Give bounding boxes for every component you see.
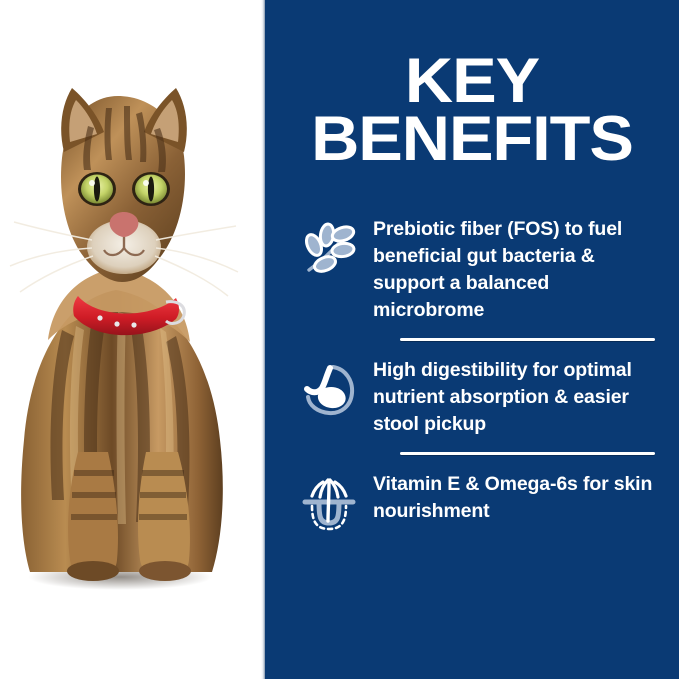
benefit-text: Prebiotic fiber (FOS) to fuel beneficial… — [373, 214, 655, 324]
cat-photo — [0, 0, 261, 679]
benefit-item-high-digestibility: High digestibility for optimal nutrient … — [265, 355, 679, 438]
page-title: KEY BENEFITS — [253, 52, 679, 168]
wheat-grain-icon — [300, 220, 358, 278]
benefit-list: Prebiotic fiber (FOS) to fuel beneficial… — [265, 214, 679, 533]
benefit-text: Vitamin E & Omega-6s for skin nourishmen… — [373, 469, 655, 525]
stomach-icon — [300, 361, 358, 419]
benefit-item-vitamin-e-omega-6: Vitamin E & Omega-6s for skin nourishmen… — [265, 469, 679, 533]
benefit-divider-2 — [400, 452, 655, 455]
benefit-divider-1 — [400, 338, 655, 341]
hair-follicle-icon — [300, 475, 358, 533]
benefit-text: High digestibility for optimal nutrient … — [373, 355, 655, 438]
benefits-panel: KEY BENEFITS — [265, 0, 679, 679]
benefit-item-prebiotic-fiber: Prebiotic fiber (FOS) to fuel beneficial… — [265, 214, 679, 324]
cat-photo-panel — [0, 0, 261, 679]
product-benefits-panel: KEY BENEFITS — [0, 0, 679, 679]
